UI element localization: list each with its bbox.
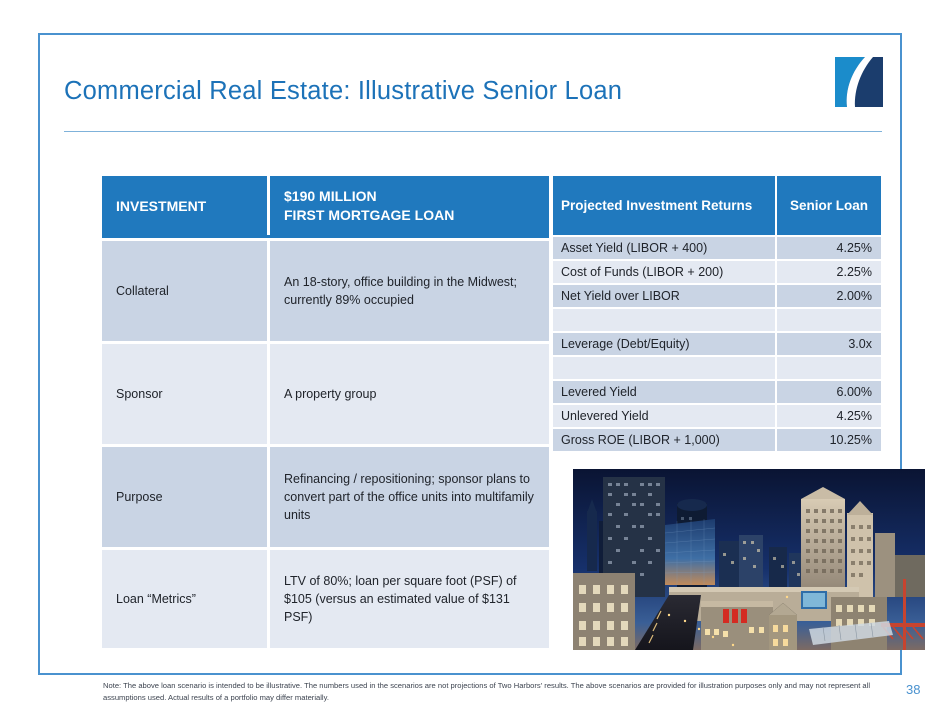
slide-frame: Commercial Real Estate: Illustrative Sen…	[38, 33, 902, 675]
table-row-value: 2.00%	[777, 285, 881, 307]
table-row-value: Refinancing / repositioning; sponsor pla…	[270, 447, 549, 547]
investment-table-header-value: $190 MILLION FIRST MORTGAGE LOAN	[270, 176, 549, 235]
two-harbors-logo	[835, 57, 883, 107]
investment-table: INVESTMENT $190 MILLION FIRST MORTGAGE L…	[102, 176, 549, 648]
investment-table-header-label: INVESTMENT	[102, 176, 267, 235]
table-row-label: Gross ROE (LIBOR + 1,000)	[553, 429, 775, 451]
table-row-value: LTV of 80%; loan per square foot (PSF) o…	[270, 550, 549, 648]
table-row-value: An 18-story, office building in the Midw…	[270, 241, 549, 341]
table-row-value: 3.0x	[777, 333, 881, 355]
table-row-label: Net Yield over LIBOR	[553, 285, 775, 307]
returns-table-header-label: Projected Investment Returns	[553, 176, 775, 235]
investment-product-line: FIRST MORTGAGE LOAN	[284, 206, 454, 225]
table-row-value: A property group	[270, 344, 549, 444]
returns-table-header-value: Senior Loan	[777, 176, 881, 235]
table-row-value: 4.25%	[777, 237, 881, 259]
table-row-label: Leverage (Debt/Equity)	[553, 333, 775, 355]
footnote-disclaimer: Note: The above loan scenario is intende…	[103, 680, 893, 704]
table-row-value: 10.25%	[777, 429, 881, 451]
city-skyline-night-photo	[573, 469, 925, 650]
table-row-label: Unlevered Yield	[553, 405, 775, 427]
investment-amount-line: $190 MILLION	[284, 187, 454, 206]
table-row-label: Asset Yield (LIBOR + 400)	[553, 237, 775, 259]
title-divider	[64, 131, 882, 132]
table-row-value	[777, 309, 881, 331]
table-row-label	[553, 357, 775, 379]
table-row-label	[553, 309, 775, 331]
table-row-label: Levered Yield	[553, 381, 775, 403]
investment-table-header-rule	[102, 235, 549, 238]
projected-returns-table: Projected Investment Returns Senior Loan…	[553, 176, 881, 448]
page-number: 38	[906, 682, 920, 697]
table-row-value: 2.25%	[777, 261, 881, 283]
table-row-label: Purpose	[102, 447, 267, 547]
table-row-value: 4.25%	[777, 405, 881, 427]
table-row-label: Cost of Funds (LIBOR + 200)	[553, 261, 775, 283]
table-row-label: Loan “Metrics”	[102, 550, 267, 648]
table-row-label: Sponsor	[102, 344, 267, 444]
table-row-label: Collateral	[102, 241, 267, 341]
table-row-value: 6.00%	[777, 381, 881, 403]
table-row-value	[777, 357, 881, 379]
page-title: Commercial Real Estate: Illustrative Sen…	[64, 77, 622, 106]
